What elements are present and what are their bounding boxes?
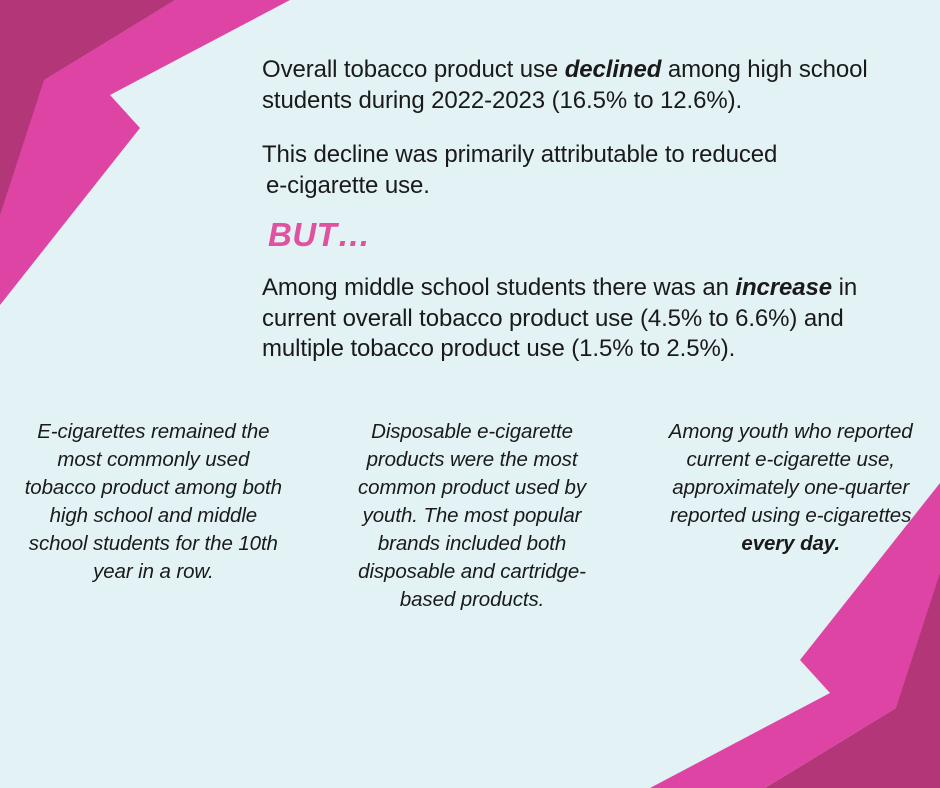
attribution-line-2: e-cigarette use. — [262, 171, 902, 202]
decline-attribution-statement: This decline was primarily attributable … — [262, 140, 902, 201]
fact-column-3-bold-tail: every day. — [741, 532, 840, 555]
high-school-decline-statement: Overall tobacco product use declined amo… — [262, 55, 902, 116]
declined-emphasis: declined — [565, 56, 662, 83]
middle-school-increase-statement: Among middle school students there was a… — [262, 273, 902, 365]
fact-column-2-text: Disposable e-cigarette products were the… — [358, 420, 586, 611]
fact-column-3-text: Among youth who reported current e-cigar… — [669, 420, 913, 527]
increase-text-part-1: Among middle school students there was a… — [262, 274, 735, 301]
infographic-poster: Overall tobacco product use declined amo… — [0, 0, 940, 788]
decline-text-part-1: Overall tobacco product use — [262, 56, 565, 83]
fact-columns: E-cigarettes remained the most commonly … — [0, 418, 940, 614]
fact-column-1: E-cigarettes remained the most commonly … — [0, 418, 311, 586]
main-text-block: Overall tobacco product use declined amo… — [262, 55, 902, 389]
content-layer: Overall tobacco product use declined amo… — [0, 0, 940, 788]
attribution-line-1: This decline was primarily attributable … — [262, 141, 777, 168]
fact-column-2: Disposable e-cigarette products were the… — [311, 418, 634, 614]
fact-column-3: Among youth who reported current e-cigar… — [633, 418, 940, 558]
but-heading: BUT… — [268, 215, 902, 255]
fact-column-1-text: E-cigarettes remained the most commonly … — [25, 420, 282, 583]
increase-emphasis: increase — [735, 274, 832, 301]
